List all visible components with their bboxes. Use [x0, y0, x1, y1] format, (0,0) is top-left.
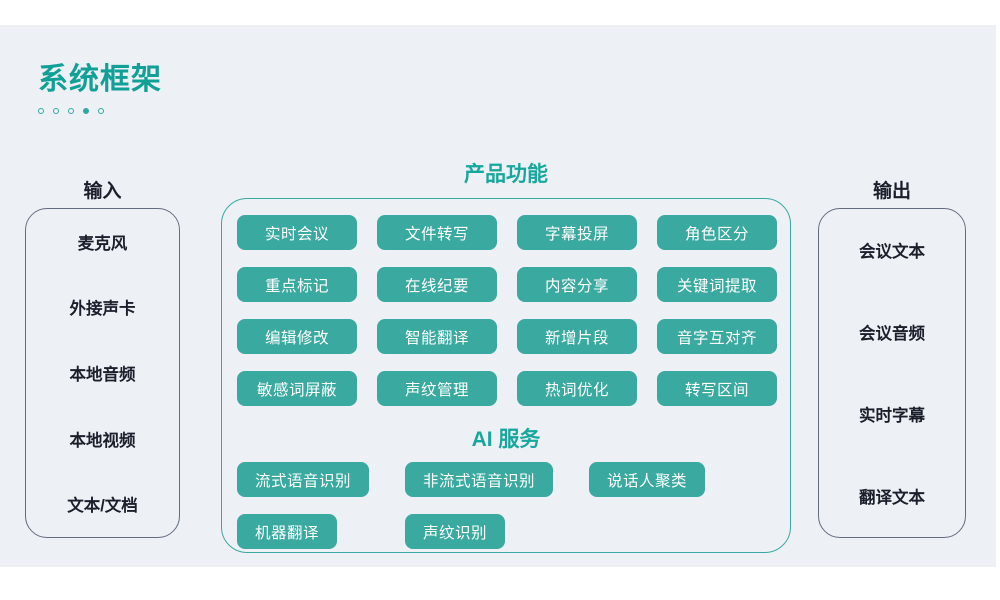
feature-pill-add-segment[interactable]: 新增片段	[517, 319, 637, 354]
feature-pill-role-separation[interactable]: 角色区分	[657, 215, 777, 250]
ai-pill-voiceprint-recognition[interactable]: 声纹识别	[405, 514, 505, 549]
input-item-sound-card: 外接声卡	[70, 295, 136, 319]
ai-services-row-1: 流式语音识别 非流式语音识别 说话人聚类	[237, 462, 777, 497]
feature-pill-realtime-meeting[interactable]: 实时会议	[237, 215, 357, 250]
title-dot-row	[38, 108, 162, 114]
feature-pill-sensitive-filter[interactable]: 敏感词屏蔽	[237, 371, 357, 406]
ai-services-rows: 流式语音识别 非流式语音识别 说话人聚类 机器翻译 声纹识别	[237, 462, 777, 549]
feature-pill-subtitle-cast[interactable]: 字幕投屏	[517, 215, 637, 250]
input-item-microphone: 麦克风	[78, 230, 128, 254]
feature-pill-keyword-extraction[interactable]: 关键词提取	[657, 267, 777, 302]
ai-services-heading: AI 服务	[221, 423, 791, 453]
ai-pill-speaker-clustering[interactable]: 说话人聚类	[589, 462, 705, 497]
feature-pill-hotword-optimize[interactable]: 热词优化	[517, 371, 637, 406]
feature-pill-key-marking[interactable]: 重点标记	[237, 267, 357, 302]
ai-pill-streaming-asr[interactable]: 流式语音识别	[237, 462, 369, 497]
feature-pill-online-minutes[interactable]: 在线纪要	[377, 267, 497, 302]
ai-services-row-2: 机器翻译 声纹识别	[237, 514, 777, 549]
input-box: 麦克风 外接声卡 本地音频 本地视频 文本/文档	[25, 208, 180, 538]
page-title: 系统框架	[38, 65, 162, 95]
slide-canvas: 系统框架 输入 麦克风 外接声卡 本地音频 本地视频 文本/文档 输出 会议文本…	[0, 25, 996, 567]
input-heading: 输入	[25, 176, 180, 203]
feature-pill-edit-modify[interactable]: 编辑修改	[237, 319, 357, 354]
title-block: 系统框架	[38, 65, 162, 114]
output-item-meeting-audio: 会议音频	[859, 320, 925, 344]
output-item-meeting-text: 会议文本	[859, 238, 925, 262]
ai-pill-machine-translation[interactable]: 机器翻译	[237, 514, 337, 549]
title-dot-3	[68, 108, 74, 114]
feature-pill-transcript-range[interactable]: 转写区间	[657, 371, 777, 406]
title-dot-1	[38, 108, 44, 114]
title-dot-5	[98, 108, 104, 114]
input-item-text-document: 文本/文档	[67, 492, 138, 516]
output-item-realtime-subtitle: 实时字幕	[859, 402, 925, 426]
input-item-local-video: 本地视频	[70, 427, 136, 451]
product-features-heading: 产品功能	[221, 158, 791, 188]
feature-pill-content-sharing[interactable]: 内容分享	[517, 267, 637, 302]
title-dot-4	[83, 108, 89, 114]
output-box: 会议文本 会议音频 实时字幕 翻译文本	[818, 208, 966, 538]
output-heading: 输出	[818, 176, 966, 203]
feature-pill-audio-text-align[interactable]: 音字互对齐	[657, 319, 777, 354]
feature-pill-smart-translation[interactable]: 智能翻译	[377, 319, 497, 354]
feature-pill-file-transcription[interactable]: 文件转写	[377, 215, 497, 250]
product-feature-grid: 实时会议 文件转写 字幕投屏 角色区分 重点标记 在线纪要 内容分享 关键词提取…	[237, 215, 777, 406]
ai-pill-non-streaming-asr[interactable]: 非流式语音识别	[405, 462, 553, 497]
input-item-local-audio: 本地音频	[70, 361, 136, 385]
title-dot-2	[53, 108, 59, 114]
feature-pill-voiceprint-manage[interactable]: 声纹管理	[377, 371, 497, 406]
output-item-translated-text: 翻译文本	[859, 484, 925, 508]
